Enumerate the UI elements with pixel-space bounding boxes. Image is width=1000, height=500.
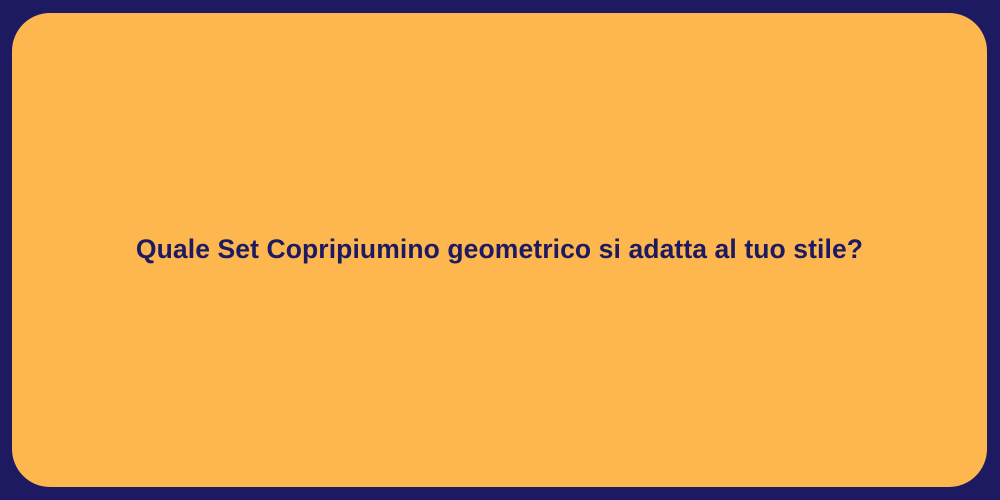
content-panel: Quale Set Copripiumino geometrico si ada… <box>12 13 987 487</box>
page-title: Quale Set Copripiumino geometrico si ada… <box>96 232 903 268</box>
banner-frame: Quale Set Copripiumino geometrico si ada… <box>0 0 1000 500</box>
